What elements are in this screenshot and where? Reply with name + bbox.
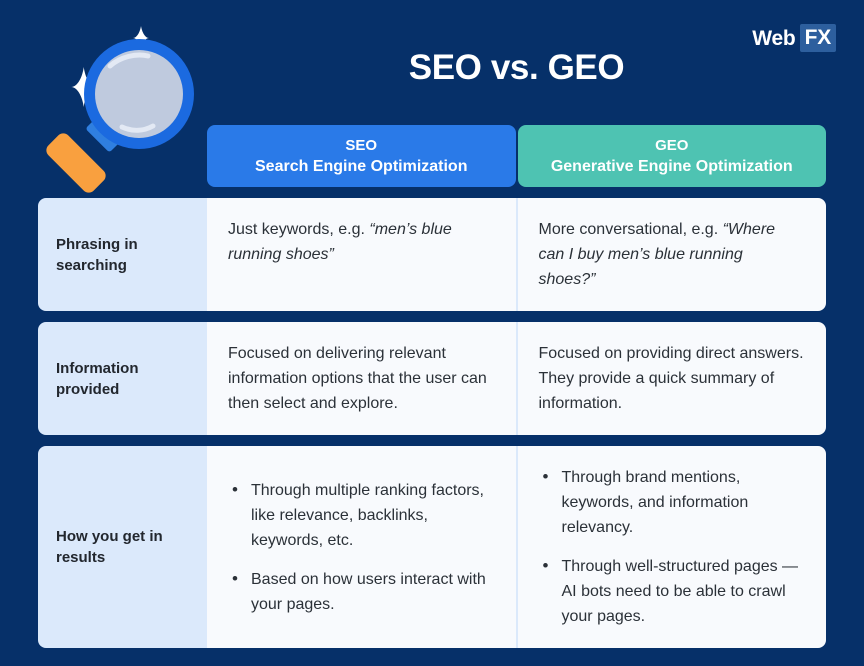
table-row: Information provided Focused on deliveri…: [38, 322, 826, 435]
bullet-list-geo: Through brand mentions, keywords, and in…: [539, 465, 805, 629]
row-cell-geo: Through brand mentions, keywords, and in…: [516, 446, 827, 648]
cell-text-lead: Focused on providing direct answers. The…: [539, 345, 804, 412]
row-label: How you get in results: [38, 446, 207, 648]
row-cell-seo: Through multiple ranking factors, like r…: [207, 446, 516, 648]
row-label: Phrasing in searching: [38, 198, 207, 311]
cell-text-lead: Focused on delivering relevant informati…: [228, 345, 487, 412]
column-header-seo-abbr: SEO: [345, 135, 377, 156]
table-header-row: SEO Search Engine Optimization GEO Gener…: [207, 125, 826, 187]
row-cell-seo: Focused on delivering relevant informati…: [207, 322, 516, 435]
row-cell-seo: Just keywords, e.g. “men’s blue running …: [207, 198, 516, 311]
column-header-geo: GEO Generative Engine Optimization: [518, 125, 827, 187]
column-header-seo: SEO Search Engine Optimization: [207, 125, 516, 187]
comparison-table: SEO Search Engine Optimization GEO Gener…: [38, 125, 826, 648]
cell-text-lead: More conversational, e.g.: [539, 221, 723, 238]
infographic-root: WebFX SEO vs. GEO SEO Search Engine Opti…: [0, 0, 864, 666]
column-header-geo-abbr: GEO: [655, 135, 688, 156]
list-item: Based on how users interact with your pa…: [230, 567, 494, 617]
row-label: Information provided: [38, 322, 207, 435]
row-cell-geo: Focused on providing direct answers. The…: [516, 322, 827, 435]
page-title: SEO vs. GEO: [207, 46, 826, 90]
column-header-seo-full: Search Engine Optimization: [255, 156, 467, 177]
cell-text-lead: Just keywords, e.g.: [228, 221, 369, 238]
bullet-list-seo: Through multiple ranking factors, like r…: [228, 478, 494, 617]
list-item: Through well-structured pages — AI bots …: [541, 554, 805, 629]
table-row: Phrasing in searching Just keywords, e.g…: [38, 198, 826, 311]
list-item: Through multiple ranking factors, like r…: [230, 478, 494, 553]
table-row: How you get in results Through multiple …: [38, 446, 826, 648]
row-cell-geo: More conversational, e.g. “Where can I b…: [516, 198, 827, 311]
list-item: Through brand mentions, keywords, and in…: [541, 465, 805, 540]
column-header-geo-full: Generative Engine Optimization: [551, 156, 793, 177]
